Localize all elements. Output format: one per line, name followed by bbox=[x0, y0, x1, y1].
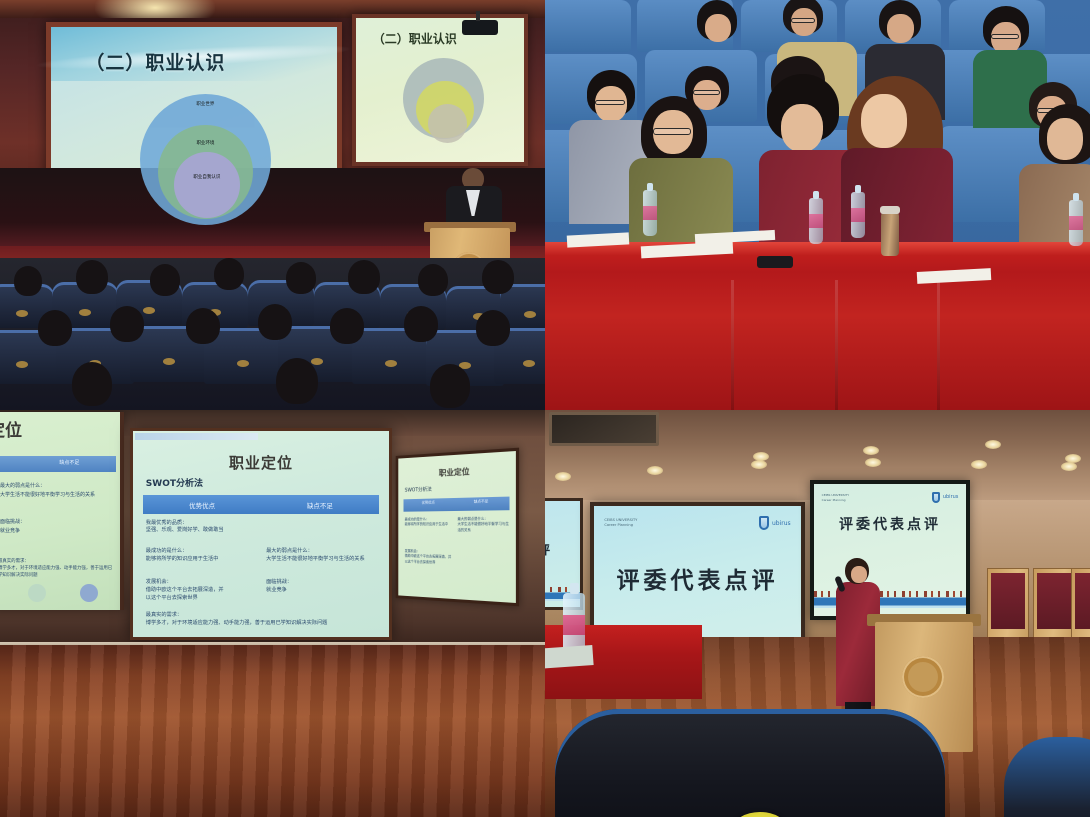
audience-head bbox=[430, 364, 470, 408]
audience-head bbox=[348, 260, 380, 294]
audience-head bbox=[476, 310, 510, 346]
swot-cell-weakness-2: 最大的弱点是什么： 大学生活不能很好地平衡学习与生活的关系 bbox=[266, 548, 379, 564]
glasses-icon bbox=[991, 34, 1019, 39]
venn-label-outer: 职业世界 bbox=[196, 101, 214, 107]
projection-screen-side: （二）职业认识 bbox=[352, 14, 528, 166]
side-slide-corner-note: CEIBS UNIVERSITY Career Planning bbox=[822, 493, 850, 502]
book-logo-icon bbox=[932, 492, 940, 503]
water-bottle bbox=[1069, 200, 1083, 246]
far-screen-title-partial: 评 bbox=[545, 541, 550, 558]
attendee-face bbox=[887, 14, 914, 43]
logo-text: ubirus bbox=[772, 520, 791, 527]
side-cell-strength: 最成功的是什么： 能够将所学的知识应用于生活中 bbox=[405, 517, 454, 528]
microphone-base bbox=[757, 256, 793, 268]
audience-head bbox=[14, 266, 42, 296]
water-bottle bbox=[809, 198, 823, 244]
side-slide-title: （二）职业认识 bbox=[373, 30, 457, 47]
projection-screen-side: 职业定位 SWOT分析法 优势优点 缺点不足 最成功的是什么： 能够将所学的知识… bbox=[396, 448, 519, 607]
swot-header-weaknesses: 缺点不足 bbox=[261, 495, 379, 515]
projection-screen-left-partial: 定位 缺点不足 最大的弱点是什么： 大学生活不能很好地平衡学习与生活的关系 面临… bbox=[0, 412, 124, 610]
paper-sheet bbox=[545, 645, 594, 669]
slide-logo-left bbox=[28, 584, 46, 602]
slide-title: 职业定位 bbox=[229, 452, 293, 473]
downlight bbox=[985, 440, 1001, 449]
left-screen-cell-a: 最大的弱点是什么： 大学生活不能很好地平衡学习与生活的关系 bbox=[0, 482, 114, 499]
slide-logo-right bbox=[80, 584, 98, 602]
photo-panel-judges bbox=[545, 0, 1090, 410]
tablecloth-fold bbox=[937, 280, 940, 410]
side-slide-title: 评委代表点评 bbox=[839, 514, 941, 534]
swot-cell-opportunity: 发展机会： 借助中欧这个平台去拓展深造，并 以这个平台去探索世界 bbox=[146, 579, 259, 602]
seat-number-badge: 09 bbox=[733, 812, 787, 817]
side-table-header: 优势优点 缺点不足 bbox=[404, 497, 510, 512]
judge-face bbox=[1047, 118, 1083, 160]
swot-cell-strength-1: 我最优秀的品质： 坚强、乐观、爱岗好学、敢做敢当 bbox=[146, 520, 259, 536]
swot-cell-strength-2: 最成功的是什么： 能够将所学的知识应用于生活中 bbox=[146, 548, 259, 564]
downlight bbox=[865, 458, 881, 467]
downlight bbox=[863, 446, 879, 455]
wooden-floor bbox=[0, 645, 545, 817]
audience-head bbox=[72, 362, 112, 406]
audience-head bbox=[110, 306, 144, 342]
tablecloth-fold bbox=[731, 280, 734, 410]
slide-title: 评委代表点评 bbox=[617, 561, 779, 595]
venn-label-inner: 职业自我认识 bbox=[193, 174, 220, 180]
audience-head bbox=[214, 258, 244, 290]
audience-head bbox=[330, 308, 364, 344]
ceiling-light-glow bbox=[95, 0, 215, 18]
left-screen-title: 定位 bbox=[0, 416, 22, 441]
ceiling-projector bbox=[462, 20, 498, 35]
photo-panel-judge-comments: 评 CEIBS UNIVERSITY Career Planning ubiru… bbox=[545, 410, 1090, 817]
downlight bbox=[1061, 462, 1077, 471]
judges-table bbox=[545, 242, 1090, 410]
audience-head bbox=[418, 264, 448, 296]
glasses-icon bbox=[791, 18, 815, 23]
side-venn-circle-inner bbox=[428, 104, 467, 143]
side-slide-title: 职业定位 bbox=[439, 466, 470, 479]
podium-emblem bbox=[902, 656, 944, 698]
audience-area bbox=[0, 258, 545, 410]
swot-header-strengths: 优势优点 bbox=[143, 495, 261, 515]
thermos-flask bbox=[881, 212, 899, 256]
audience-head bbox=[482, 260, 514, 294]
venn-label-middle: 职业环境 bbox=[196, 140, 214, 146]
water-bottle bbox=[851, 192, 865, 238]
side-slide-logo: ubirus bbox=[932, 492, 959, 503]
left-screen-cell-c: 最真实的需求： 博学多才，对于环境适应能力强、动手能力强，善于运用已学知识解决实… bbox=[0, 558, 116, 579]
speaker-face bbox=[851, 566, 867, 583]
side-header-strengths: 优势优点 bbox=[404, 498, 454, 512]
left-screen-header-bar: 缺点不足 bbox=[0, 456, 116, 472]
downlight bbox=[647, 466, 663, 475]
audience-head bbox=[186, 308, 220, 344]
water-bottle bbox=[643, 190, 657, 236]
downlight bbox=[971, 460, 987, 469]
side-header-weaknesses: 缺点不足 bbox=[454, 497, 509, 511]
downlight bbox=[751, 460, 767, 469]
judge-face bbox=[861, 94, 907, 148]
glasses-icon bbox=[595, 100, 625, 105]
swot-cell-needs: 最真实的需求： 博学多才，对于环境适应能力强、动手能力强，善于运用已学知识解决实… bbox=[146, 612, 382, 628]
photo-panel-auditorium: （二）职业认识 职业世界 职业环境 职业自我认识 （二）职业认识 bbox=[0, 0, 545, 410]
ac-vent bbox=[549, 412, 659, 446]
glasses-icon bbox=[653, 128, 691, 135]
slide-subtitle: SWOT分析法 bbox=[146, 476, 203, 489]
book-logo-icon bbox=[759, 516, 769, 530]
audience-head bbox=[38, 310, 72, 346]
side-cell-opportunity: 发展机会： 借助中欧这个平台去拓展深造，并 以这个平台去探索世界 bbox=[405, 549, 454, 566]
back-seat bbox=[545, 0, 631, 52]
audience-head bbox=[286, 262, 316, 294]
audience-head bbox=[276, 358, 318, 404]
photo-panel-swot-presentation: 定位 缺点不足 最大的弱点是什么： 大学生活不能很好地平衡学习与生活的关系 面临… bbox=[0, 410, 545, 817]
speaker-body bbox=[836, 582, 880, 706]
slide-title: （二）职业认识 bbox=[85, 48, 225, 75]
downlight bbox=[555, 472, 571, 481]
judge-face bbox=[781, 104, 823, 152]
projection-screen-main: 职业定位 SWOT分析法 优势优点 缺点不足 我最优秀的品质： 坚强、乐观、爱岗… bbox=[130, 428, 392, 640]
tablecloth-fold bbox=[835, 280, 838, 410]
audience-head bbox=[258, 304, 292, 340]
slide-logo: ubirus bbox=[759, 516, 791, 530]
glasses-icon bbox=[693, 90, 720, 95]
side-slide-subtitle: SWOT分析法 bbox=[405, 486, 432, 494]
photo-collage: （二）职业认识 职业世界 职业环境 职业自我认识 （二）职业认识 bbox=[0, 0, 1090, 817]
attendee-face bbox=[705, 14, 731, 42]
side-logo-text: ubirus bbox=[943, 494, 959, 500]
venn-circle-inner: 职业自我认识 bbox=[174, 152, 240, 218]
presentation-toolbar bbox=[135, 433, 258, 440]
side-cell-weakness: 最大的弱点是什么： 大学生活不能很好地平衡学习与生活的关系 bbox=[458, 516, 512, 533]
left-screen-header-label: 缺点不足 bbox=[59, 459, 79, 466]
swot-table-header: 优势优点 缺点不足 bbox=[143, 495, 379, 515]
audience-head bbox=[76, 260, 108, 294]
foreground-seat: 09 bbox=[555, 709, 945, 817]
swot-cell-threat: 面临挑战： 就业竞争 bbox=[266, 579, 379, 595]
slide-corner-note: CEIBS UNIVERSITY Career Planning bbox=[604, 518, 637, 529]
left-screen-cell-b: 面临挑战： 就业竞争 bbox=[0, 518, 114, 535]
audience-head bbox=[404, 306, 438, 342]
audience-head bbox=[150, 264, 180, 296]
projection-screen-side: CEIBS UNIVERSITY Career Planning ubirus … bbox=[810, 480, 970, 620]
